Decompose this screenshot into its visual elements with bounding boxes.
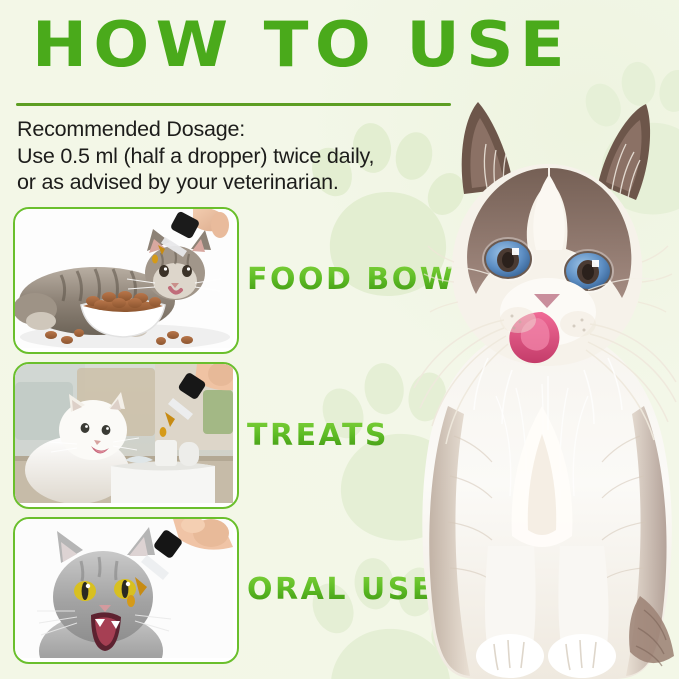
page-title: HOW TO USE bbox=[32, 14, 571, 76]
header-divider bbox=[16, 103, 451, 106]
photo-cat-water-fountain bbox=[15, 364, 237, 507]
how-to-use-poster: HOW TO USE Recommended Dosage: Use 0.5 m… bbox=[0, 0, 679, 679]
hero-cat-image bbox=[392, 76, 679, 679]
method-card-food-bowl[interactable] bbox=[13, 207, 239, 354]
method-label-treats: TREATS bbox=[247, 418, 389, 453]
method-card-oral-use[interactable] bbox=[13, 517, 239, 664]
photo-cat-oral-dropper bbox=[15, 519, 237, 662]
method-card-treats[interactable] bbox=[13, 362, 239, 509]
photo-cat-food-bowl bbox=[15, 209, 237, 352]
